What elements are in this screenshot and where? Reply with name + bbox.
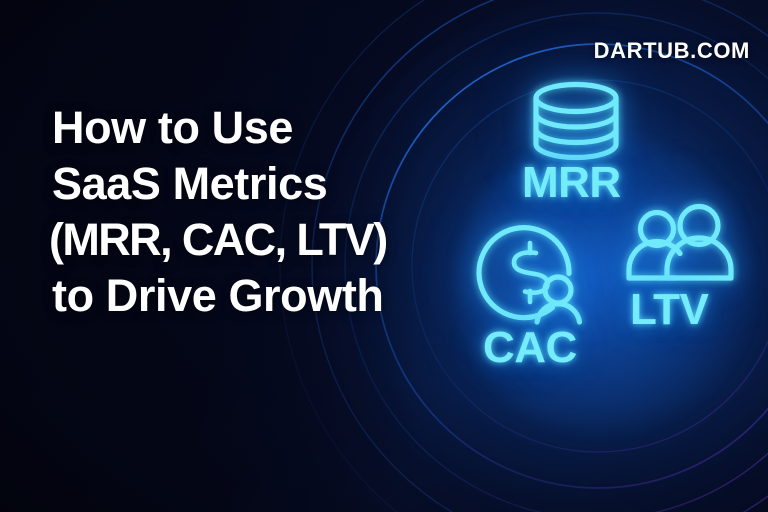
- title-line-2: SaaS Metrics: [52, 156, 432, 212]
- dollar-circle-person-icon: [474, 222, 590, 334]
- metric-label-mrr: MRR: [522, 161, 621, 205]
- metric-label-ltv: LTV: [630, 288, 708, 332]
- title-line-3: (MRR, CAC, LTV): [49, 212, 432, 268]
- page-title: How to Use SaaS Metrics (MRR, CAC, LTV) …: [52, 100, 432, 324]
- thumbnail-canvas: DARTUB.COM How to Use SaaS Metrics (MRR,…: [0, 0, 768, 512]
- brand-watermark: DARTUB.COM: [594, 38, 750, 64]
- title-line-1: How to Use: [52, 100, 432, 156]
- metric-label-cac: CAC: [483, 326, 577, 370]
- two-people-group-icon: [624, 206, 740, 288]
- title-line-4: to Drive Growth: [52, 268, 432, 324]
- database-stack-icon: [528, 82, 624, 160]
